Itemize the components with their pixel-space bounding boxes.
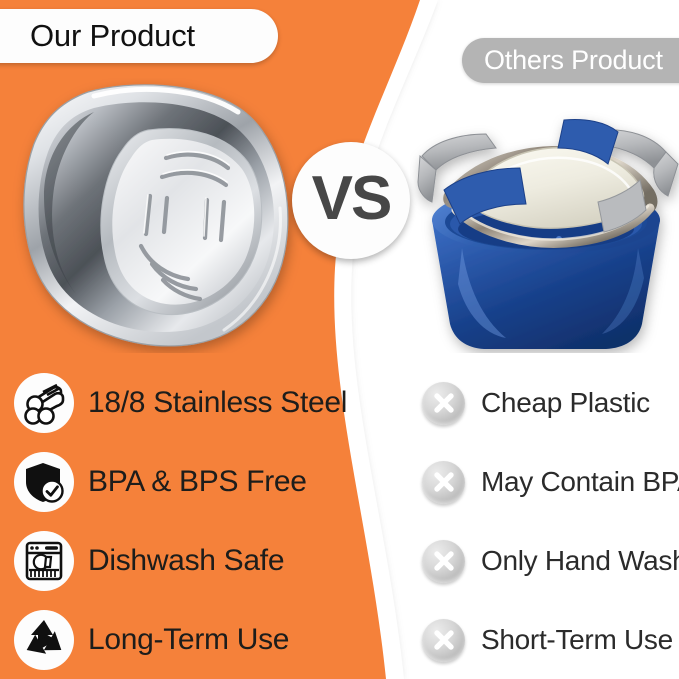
product-image-others-plastic-box: [410, 98, 679, 353]
x-circle-icon: [422, 540, 465, 583]
x-circle-icon: [422, 382, 465, 425]
dishwasher-icon: [14, 531, 74, 591]
x-circle-icon: [422, 619, 465, 662]
feature-row-bpa-free: BPA & BPS Free: [14, 451, 334, 513]
steel-pipes-icon: [14, 373, 74, 433]
our-product-label: Our Product: [30, 18, 195, 54]
feature-row-may-contain-bpa: May Contain BPA: [422, 453, 679, 511]
others-product-label: Others Product: [484, 45, 663, 76]
feature-label: Dishwash Safe: [88, 544, 284, 578]
feature-label: BPA & BPS Free: [88, 465, 307, 499]
feature-row-long-term-use: Long-Term Use: [14, 609, 334, 671]
feature-row-stainless-steel: 18/8 Stainless Steel: [14, 372, 334, 434]
vs-badge: VS: [292, 142, 410, 259]
others-product-banner: Others Product: [462, 38, 679, 83]
feature-row-dishwash-safe: Dishwash Safe: [14, 530, 334, 592]
feature-label: Long-Term Use: [88, 623, 289, 657]
feature-label: Short-Term Use: [481, 624, 673, 656]
comparison-infographic: Our Product Others Product VS: [0, 0, 679, 679]
recycle-icon: [14, 610, 74, 670]
our-product-banner: Our Product: [0, 9, 278, 63]
product-image-our-stainless-bowl: [10, 78, 310, 353]
feature-row-only-hand-wash: Only Hand Wash: [422, 532, 679, 590]
vs-label: VS: [312, 168, 391, 230]
x-circle-icon: [422, 461, 465, 504]
feature-label: 18/8 Stainless Steel: [88, 386, 347, 420]
others-product-feature-list: Cheap Plastic May Contain BPA: [422, 374, 679, 679]
feature-row-short-term-use: Short-Term Use: [422, 611, 679, 669]
shield-check-icon: [14, 452, 74, 512]
feature-row-cheap-plastic: Cheap Plastic: [422, 374, 679, 432]
feature-label: Only Hand Wash: [481, 545, 679, 577]
feature-label: Cheap Plastic: [481, 387, 650, 419]
our-product-feature-list: 18/8 Stainless Steel BPA & BPS Free: [14, 372, 334, 679]
feature-label: May Contain BPA: [481, 466, 679, 498]
